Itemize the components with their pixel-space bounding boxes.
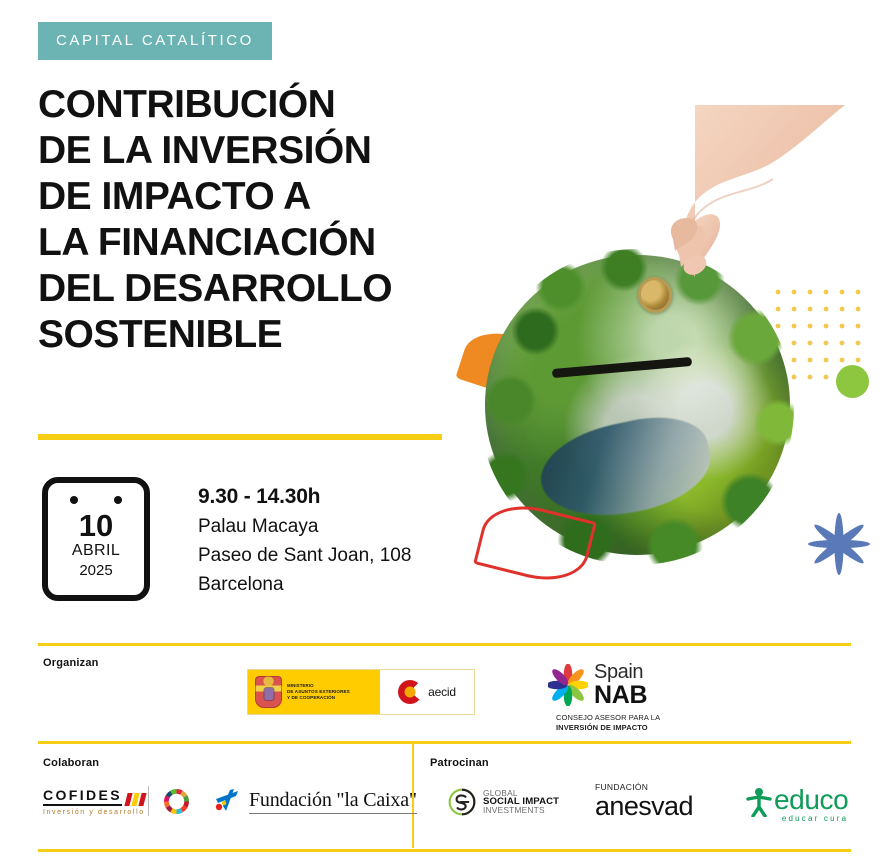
gsi-wordmark: GLOBAL SOCIAL IMPACT INVESTMENTS bbox=[483, 789, 559, 815]
artwork-globe-illustration bbox=[440, 0, 889, 640]
calendar-ring-left-icon bbox=[70, 496, 78, 504]
la-caixa-wordmark: Fundación "la Caixa" bbox=[249, 789, 417, 814]
event-year: 2025 bbox=[79, 561, 112, 580]
title-line-3: DE IMPACTO A bbox=[38, 174, 458, 220]
logo-aecid: aecid bbox=[380, 670, 474, 714]
event-date-block: 10 ABRIL 2025 bbox=[42, 477, 150, 601]
label-colaboran: Colaboran bbox=[43, 757, 99, 769]
spain-nab-subtitle: CONSEJO ASESOR PARA LA INVERSIÓN DE IMPA… bbox=[556, 713, 713, 733]
educo-person-icon bbox=[746, 787, 772, 817]
gsi-monogram-icon bbox=[447, 787, 477, 817]
logo-ministerio-aecid: MINISTERIO DE ASUNTOS EXTERIORES Y DE CO… bbox=[247, 669, 475, 715]
title-line-1: CONTRIBUCIÓN bbox=[38, 82, 458, 128]
logo-la-caixa: Fundación "la Caixa" bbox=[213, 788, 417, 814]
spain-nab-sub-2: INVERSIÓN DE IMPACTO bbox=[556, 723, 713, 733]
ministerio-text: MINISTERIO DE ASUNTOS EXTERIORES Y DE CO… bbox=[287, 683, 350, 701]
event-month: ABRIL bbox=[72, 541, 120, 561]
gsi-line-3: INVESTMENTS bbox=[483, 806, 559, 815]
spain-nab-flower-icon bbox=[548, 664, 588, 706]
cofides-sdg-separator bbox=[148, 786, 149, 816]
spain-nab-top: Spain bbox=[594, 662, 647, 682]
footer-divider-top bbox=[38, 643, 851, 646]
title-line-2: DE LA INVERSIÓN bbox=[38, 128, 458, 174]
aecid-label: aecid bbox=[428, 685, 456, 699]
logo-anesvad: FUNDACIÓN anesvad bbox=[595, 782, 693, 820]
green-circle-shape bbox=[836, 365, 869, 398]
cofides-row: COFIDES bbox=[43, 787, 145, 806]
event-details: 9.30 - 14.30h Palau Macaya Paseo de Sant… bbox=[198, 482, 458, 599]
la-caixa-star-icon bbox=[213, 788, 241, 814]
cofides-wordmark: COFIDES bbox=[43, 787, 122, 806]
event-day: 10 bbox=[79, 511, 113, 541]
label-organizan: Organizan bbox=[43, 657, 99, 669]
event-venue: Palau Macaya bbox=[198, 512, 458, 541]
event-city: Barcelona bbox=[198, 570, 458, 599]
educo-tagline: educar cura bbox=[774, 814, 848, 823]
ministerio-line-3: Y DE COOPERACIÓN bbox=[287, 695, 350, 701]
title-line-5: DEL DESARROLLO bbox=[38, 266, 458, 312]
blue-star-burst-shape bbox=[805, 510, 873, 578]
title-line-4: LA FINANCIACIÓN bbox=[38, 220, 458, 266]
sdg-wheel-icon bbox=[163, 788, 190, 815]
aecid-mark-icon bbox=[398, 680, 422, 704]
event-address: Paseo de Sant Joan, 108 bbox=[198, 541, 458, 570]
logo-spain-nab: Spain NAB CONSEJO ASESOR PARA LA INVERSI… bbox=[548, 662, 713, 733]
globe-water-region bbox=[532, 406, 718, 530]
logo-ministerio: MINISTERIO DE ASUNTOS EXTERIORES Y DE CO… bbox=[248, 670, 380, 714]
footer-divider-bottom bbox=[38, 849, 851, 852]
piggybank-coin-slot bbox=[552, 357, 693, 378]
cofides-tagline: Inversión y desarrollo bbox=[43, 809, 145, 816]
hand-illustration bbox=[635, 105, 845, 290]
spain-coat-of-arms-icon bbox=[255, 676, 282, 708]
footer-divider-middle bbox=[38, 741, 851, 744]
spain-nab-bottom: NAB bbox=[594, 683, 647, 708]
title-line-6: SOSTENIBLE bbox=[38, 312, 458, 358]
yellow-divider-rule bbox=[38, 434, 442, 440]
spain-nab-row: Spain NAB bbox=[548, 662, 713, 708]
category-badge: CAPITAL CATALÍTICO bbox=[38, 22, 272, 60]
logo-educo: educo educar cura bbox=[746, 786, 848, 823]
anesvad-wordmark: anesvad bbox=[595, 793, 693, 820]
label-patrocinan: Patrocinan bbox=[430, 757, 489, 769]
event-time: 9.30 - 14.30h bbox=[198, 482, 458, 512]
hero-section: CAPITAL CATALÍTICO CONTRIBUCIÓN DE LA IN… bbox=[0, 0, 889, 640]
logo-global-social-impact: GLOBAL SOCIAL IMPACT INVESTMENTS bbox=[447, 787, 559, 817]
educo-wordmark-block: educo educar cura bbox=[774, 786, 848, 823]
spain-nab-sub-1: CONSEJO ASESOR PARA LA bbox=[556, 713, 713, 723]
spain-nab-wordmark: Spain NAB bbox=[594, 662, 647, 708]
calendar-icon: 10 ABRIL 2025 bbox=[42, 477, 150, 601]
logo-cofides: COFIDES Inversión y desarrollo bbox=[43, 787, 145, 816]
page-title: CONTRIBUCIÓN DE LA INVERSIÓN DE IMPACTO … bbox=[38, 82, 458, 358]
educo-wordmark: educo bbox=[774, 786, 848, 813]
calendar-ring-right-icon bbox=[114, 496, 122, 504]
spain-flag-icon bbox=[124, 793, 146, 806]
